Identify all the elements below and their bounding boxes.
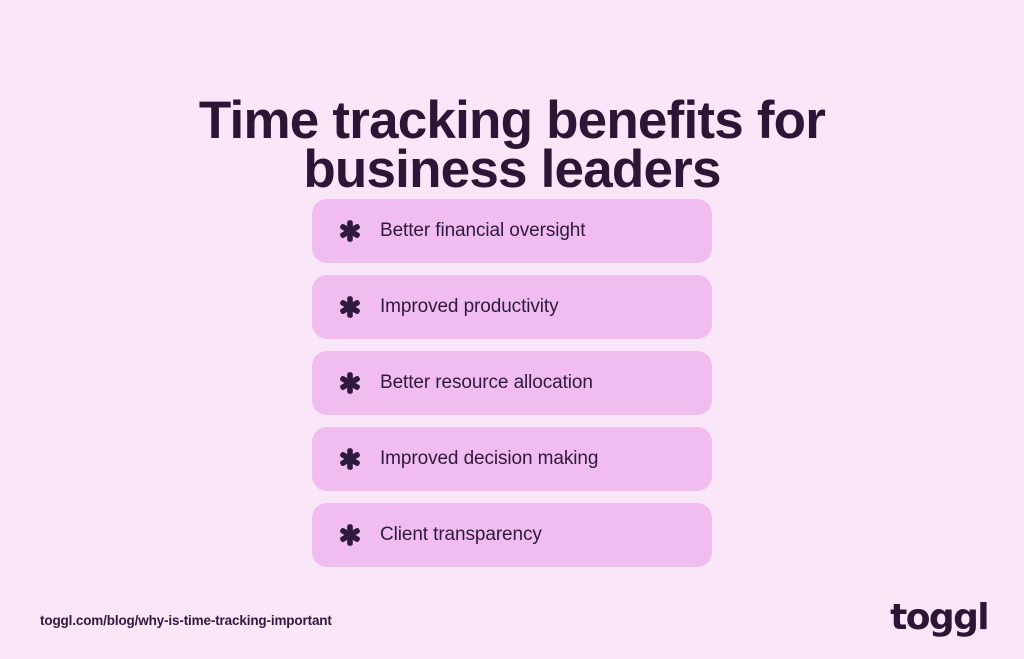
asterisk-icon — [338, 523, 362, 547]
asterisk-icon — [338, 219, 362, 243]
infographic-poster: Time tracking benefits for business lead… — [0, 0, 1024, 659]
list-item: Improved productivity — [312, 275, 712, 339]
toggl-logo-text: toggl — [890, 600, 988, 636]
asterisk-icon — [338, 295, 362, 319]
benefits-list: Better financial oversight Improved prod… — [312, 199, 712, 567]
toggl-logo: toggl — [890, 600, 988, 636]
source-url: toggl.com/blog/why-is-time-tracking-impo… — [40, 612, 332, 630]
list-item-label: Better financial oversight — [380, 219, 585, 243]
list-item: Improved decision making — [312, 427, 712, 491]
list-item-label: Client transparency — [380, 523, 542, 547]
list-item: Better resource allocation — [312, 351, 712, 415]
list-item: Client transparency — [312, 503, 712, 567]
list-item-label: Improved productivity — [380, 295, 558, 319]
list-item-label: Better resource allocation — [380, 371, 593, 395]
list-item-label: Improved decision making — [380, 447, 598, 471]
asterisk-icon — [338, 371, 362, 395]
asterisk-icon — [338, 447, 362, 471]
page-title: Time tracking benefits for business lead… — [0, 96, 1024, 194]
list-item: Better financial oversight — [312, 199, 712, 263]
